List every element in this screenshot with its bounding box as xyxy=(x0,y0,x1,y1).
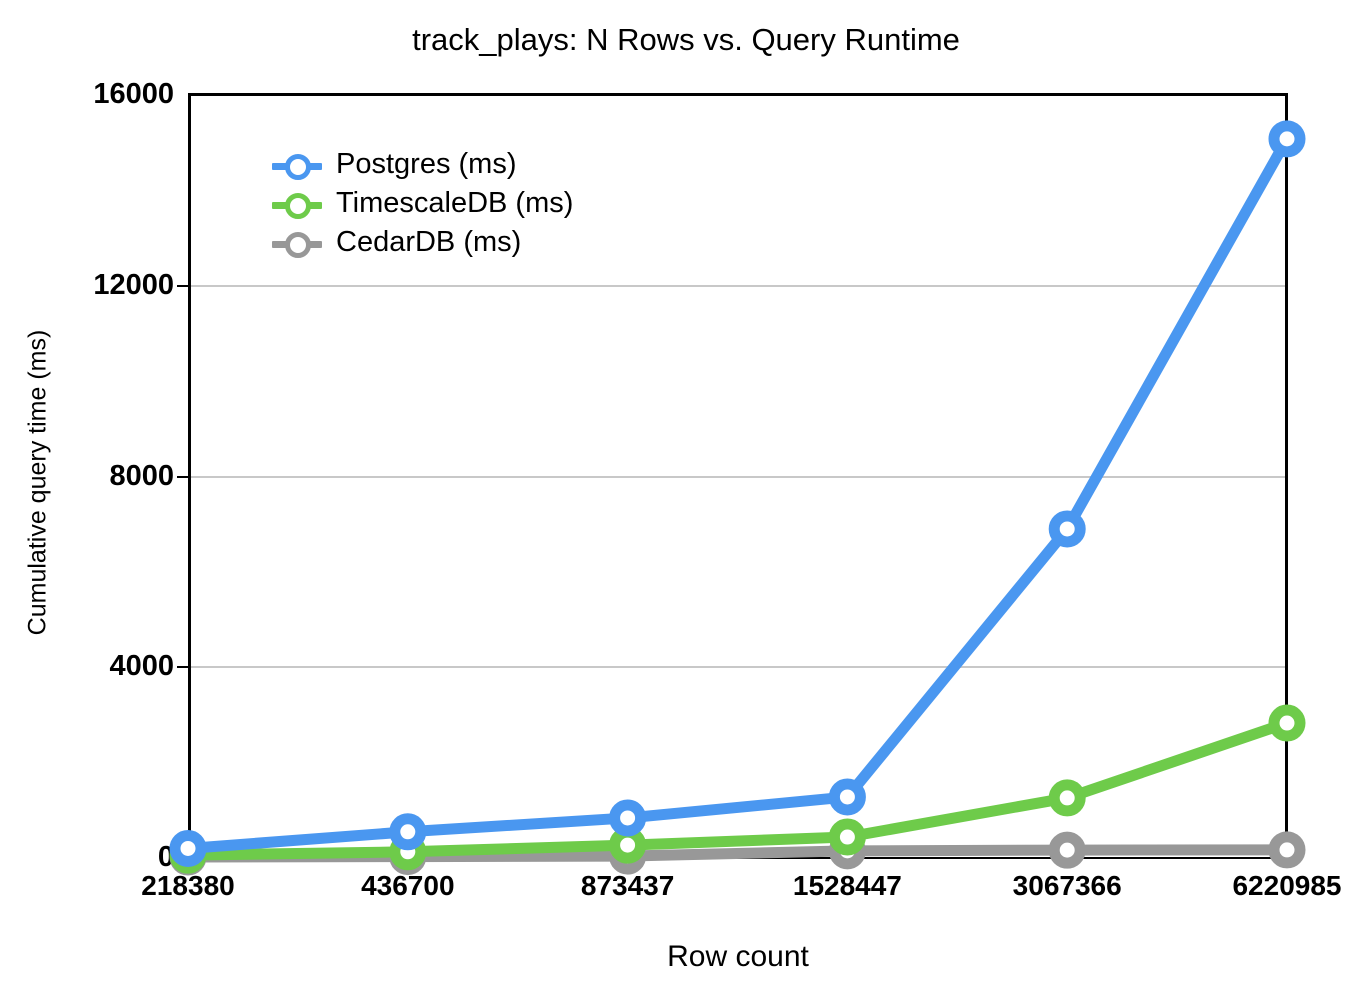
series-plot-area xyxy=(0,0,1372,1008)
legend-marker-cedardb xyxy=(272,228,322,258)
legend: Postgres (ms) TimescaleDB (ms) CedarDB (… xyxy=(272,145,573,262)
series-timescaledbms xyxy=(175,710,1300,868)
legend-item-timescaledb[interactable]: TimescaleDB (ms) xyxy=(272,184,573,223)
legend-label-cedardb: CedarDB (ms) xyxy=(336,226,521,259)
data-point[interactable] xyxy=(1274,837,1300,863)
chart-canvas: track_plays: N Rows vs. Query Runtime Cu… xyxy=(0,0,1372,1008)
data-point[interactable] xyxy=(395,819,421,845)
data-point[interactable] xyxy=(1054,837,1080,863)
data-point[interactable] xyxy=(834,784,860,810)
data-point[interactable] xyxy=(1274,126,1300,152)
legend-label-timescaledb: TimescaleDB (ms) xyxy=(336,187,573,220)
legend-dot-postgres xyxy=(285,154,311,180)
legend-item-cedardb[interactable]: CedarDB (ms) xyxy=(272,223,573,262)
data-point[interactable] xyxy=(1054,785,1080,811)
data-point[interactable] xyxy=(615,805,641,831)
data-point[interactable] xyxy=(1274,710,1300,736)
legend-marker-timescaledb xyxy=(272,189,322,219)
data-point[interactable] xyxy=(834,824,860,850)
legend-item-postgres[interactable]: Postgres (ms) xyxy=(272,145,573,184)
legend-label-postgres: Postgres (ms) xyxy=(336,148,516,181)
legend-marker-postgres xyxy=(272,150,322,180)
legend-dot-cedardb xyxy=(285,232,311,258)
data-point[interactable] xyxy=(175,835,201,861)
data-point[interactable] xyxy=(1054,516,1080,542)
legend-dot-timescaledb xyxy=(285,193,311,219)
